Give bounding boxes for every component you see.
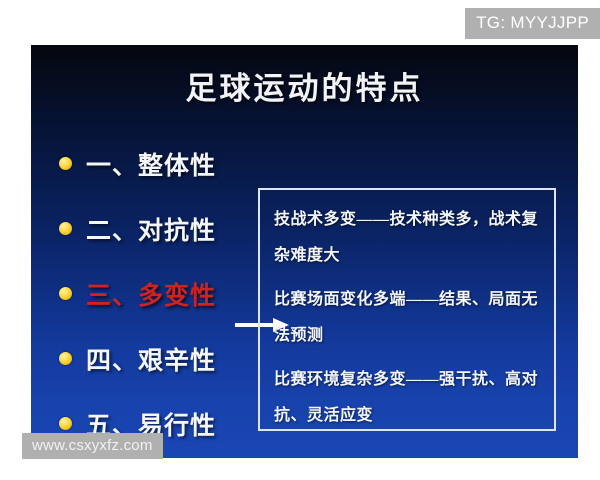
bullet-label: 四、艰辛性 [86,341,216,377]
site-watermark: www.csxyxfz.com [22,433,163,459]
bullet-dot-icon [59,352,72,365]
bullet-dot-icon [59,157,72,170]
presentation-slide: 足球运动的特点 一、整体性 二、对抗性 三、多变性 四、艰辛性 五、易行性 技战… [31,45,578,458]
detail-callout-box: 技战术多变——技术种类多，战术复杂难度大 比赛场面变化多端——结果、局面无法预测… [258,188,556,431]
telegram-watermark: TG: MYYJJPP [465,8,600,39]
bullet-label-highlighted: 三、多变性 [86,276,216,312]
bullet-label: 二、对抗性 [86,211,216,247]
bullet-list: 一、整体性 二、对抗性 三、多变性 四、艰辛性 五、易行性 [59,131,269,456]
detail-paragraph: 比赛场面变化多端——结果、局面无法预测 [274,282,540,354]
bullet-dot-icon [59,287,72,300]
bullet-dot-icon [59,222,72,235]
list-item[interactable]: 一、整体性 [59,131,269,196]
bullet-dot-icon [59,417,72,430]
page-title: 足球运动的特点 [31,63,578,108]
detail-paragraph: 技战术多变——技术种类多，战术复杂难度大 [274,202,540,274]
bullet-label: 一、整体性 [86,146,216,182]
list-item[interactable]: 四、艰辛性 [59,326,269,391]
detail-paragraph: 比赛环境复杂多变——强干扰、高对抗、灵活应变 [274,362,540,434]
list-item[interactable]: 二、对抗性 [59,196,269,261]
